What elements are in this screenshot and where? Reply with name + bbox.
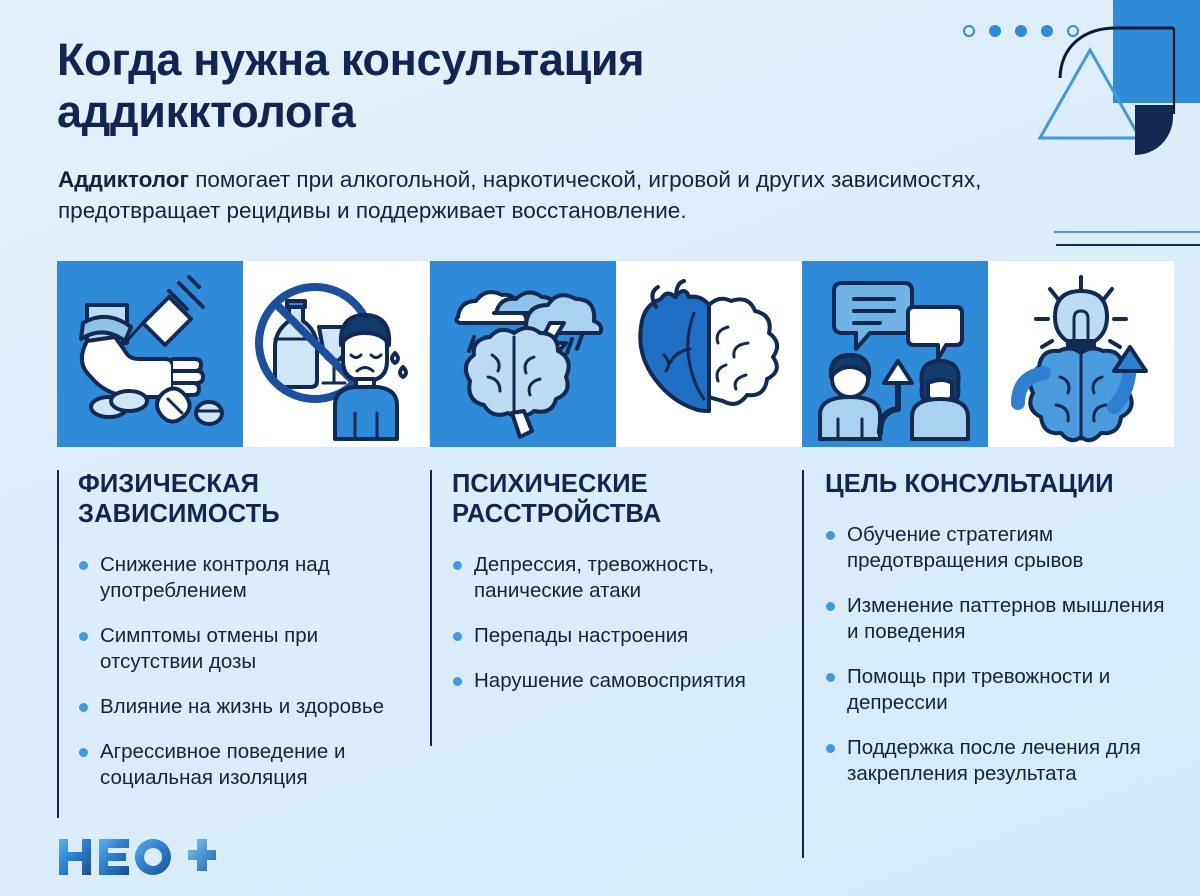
tile-heart-brain-split [616,261,802,447]
tile-two-people-speech-bubbles [802,261,988,447]
decor-dot-3 [1015,25,1027,37]
list-item: Нарушение самовосприятия [452,668,782,694]
list-item: Депрессия, тревожность, панические атаки [452,552,782,604]
decor-rule-dark [1056,244,1200,246]
page-subtitle: Аддиктолог помогает при алкогольной, нар… [58,165,1113,226]
brand-logo [57,836,217,878]
list-item: Влияние на жизнь и здоровье [78,694,408,720]
column-consultation-goal: ЦЕЛЬ КОНСУЛЬТАЦИИ Обучение стратегиям пр… [825,470,1175,806]
subtitle-body: помогает при алкогольной, наркотической,… [58,167,981,223]
column-2-list: Депрессия, тревожность, панические атаки… [452,552,782,694]
list-item: Симптомы отмены при отсутствии дозы [78,623,408,675]
tile-brain-lightbulb-arrows [988,261,1174,447]
column-3-heading: ЦЕЛЬ КОНСУЛЬТАЦИИ [825,470,1175,500]
decor-dot-1 [963,25,975,37]
subtitle-lead-term: Аддиктолог [58,167,189,192]
tile-storm-cloud-brain [430,261,616,447]
list-item: Изменение паттернов мышления и поведения [825,593,1175,645]
tile-arm-syringe-pills [57,261,243,447]
decor-rule-light [1054,231,1200,233]
column-2-heading: ПСИХИЧЕСКИЕ РАССТРОЙСТВА [452,470,782,530]
list-item: Помощь при тревожности и депрессии [825,664,1175,716]
page-title: Когда нужна консультация аддикктолога [57,34,877,138]
list-item: Поддержка после лечения для закрепления … [825,735,1175,787]
column-physical-dependence: ФИЗИЧЕСКАЯ ЗАВИСИМОСТЬ Снижение контроля… [78,470,408,810]
column-mental-disorders: ПСИХИЧЕСКИЕ РАССТРОЙСТВА Депрессия, трев… [452,470,782,713]
list-item: Снижение контроля над употреблением [78,552,408,604]
icon-tile-row [0,261,1200,447]
list-item: Обучение стратегиям предотвращения срыво… [825,522,1175,574]
column-divider-1 [57,470,59,818]
list-item: Перепады настроения [452,623,782,649]
column-1-heading: ФИЗИЧЕСКАЯ ЗАВИСИМОСТЬ [78,470,408,530]
column-divider-3 [802,470,804,858]
column-1-list: Снижение контроля над употреблением Симп… [78,552,408,791]
list-item: Агрессивное поведение и социальная изоля… [78,739,408,791]
column-divider-2 [430,470,432,746]
column-3-list: Обучение стратегиям предотвращения срыво… [825,522,1175,787]
tile-no-alcohol-sad-person [243,261,429,447]
decor-dot-2 [989,25,1001,37]
decor-dot-4 [1041,25,1053,37]
